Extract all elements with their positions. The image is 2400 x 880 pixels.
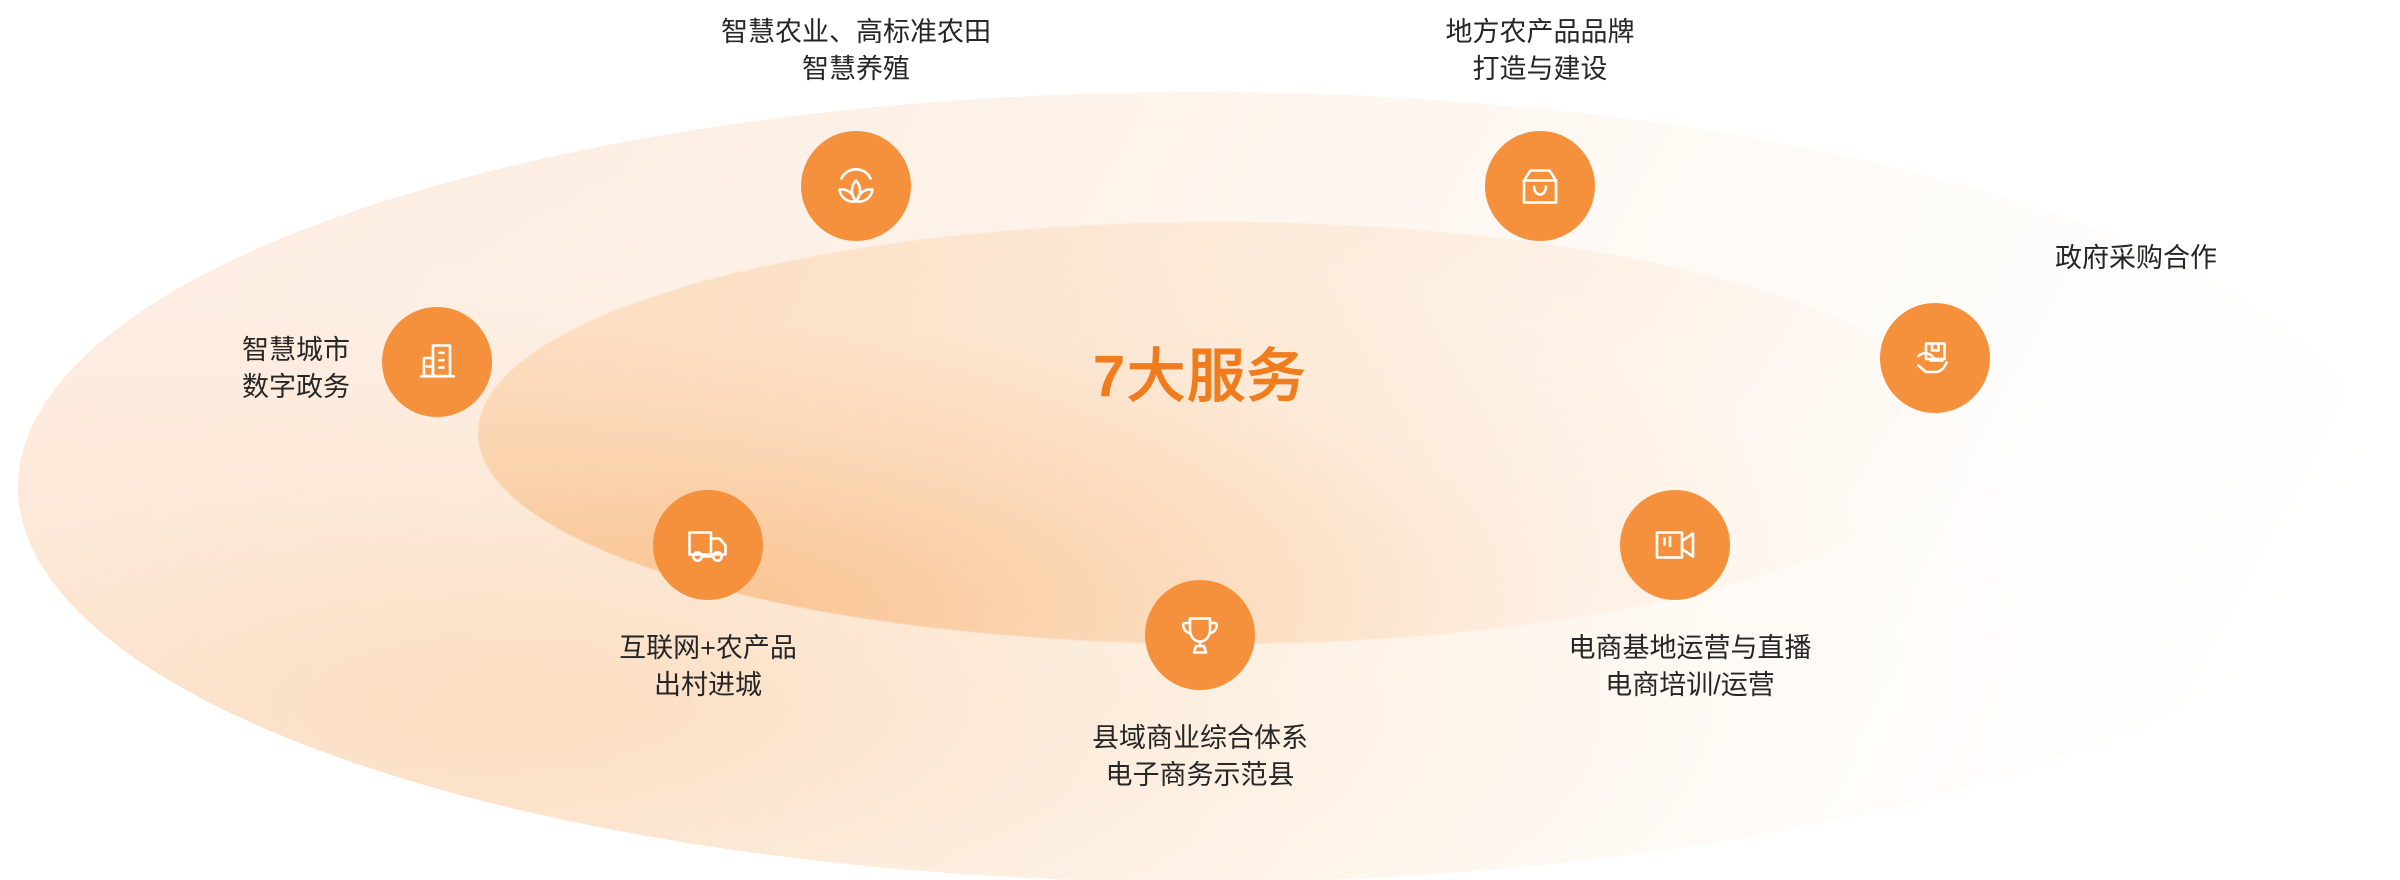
local-brand-label: 地方农产品品牌 打造与建设: [1230, 14, 1850, 89]
smart-city-label: 智慧城市 数字政务: [50, 332, 350, 407]
smart-agriculture-icon-circle[interactable]: [801, 131, 911, 241]
ecommerce-base-label: 电商基地运营与直播 电商培训/运营: [1390, 630, 1990, 705]
building-icon: [408, 333, 466, 391]
government-procurement-label: 政府采购合作: [2055, 240, 2385, 277]
sprout-icon: [826, 156, 886, 216]
ecommerce-base-icon-circle[interactable]: [1620, 490, 1730, 600]
shopping-bag-icon: [1511, 157, 1569, 215]
local-brand-icon-circle[interactable]: [1485, 131, 1595, 241]
smart-agriculture-label: 智慧农业、高标准农田 智慧养殖: [556, 14, 1156, 89]
trophy-icon: [1171, 606, 1229, 664]
county-commerce-label: 县域商业综合体系 电子商务示范县: [900, 720, 1500, 795]
government-procurement-icon-circle[interactable]: [1880, 303, 1990, 413]
infographic-canvas: 7大服务 智慧农业、高标准农田 智慧养殖: [0, 0, 2400, 880]
internet-plus-agriculture-label: 互联网+农产品 出村进城: [408, 630, 1008, 705]
internet-plus-agriculture-icon-circle[interactable]: [653, 490, 763, 600]
hand-package-icon: [1906, 329, 1964, 387]
truck-icon: [679, 516, 737, 574]
county-commerce-icon-circle[interactable]: [1145, 580, 1255, 690]
smart-city-icon-circle[interactable]: [382, 307, 492, 417]
center-title: 7大服务: [0, 348, 2400, 406]
video-camera-icon: [1646, 516, 1704, 574]
